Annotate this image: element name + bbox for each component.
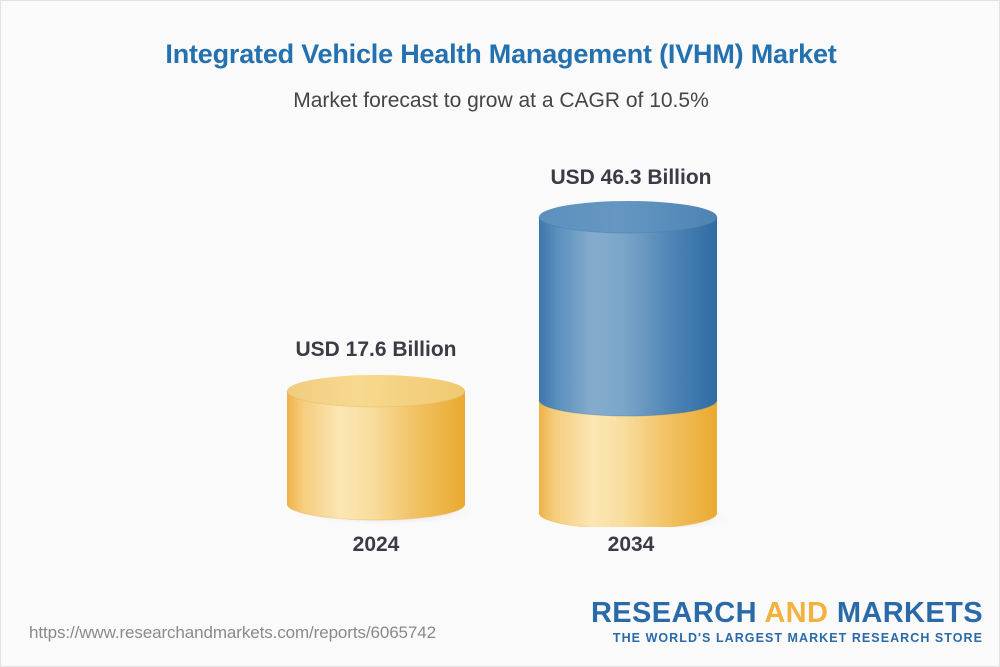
bar-2024 <box>279 375 479 525</box>
research-and-markets-logo[interactable]: RESEARCH AND MARKETS THE WORLD'S LARGEST… <box>591 598 983 645</box>
chart-canvas: Integrated Vehicle Health Management (IV… <box>0 0 1000 667</box>
value-label-2024: USD 17.6 Billion <box>226 338 526 362</box>
bar-2034 <box>523 197 743 527</box>
logo-word-research: RESEARCH <box>591 597 757 629</box>
logo-wordmark: RESEARCH AND MARKETS <box>591 598 983 628</box>
bar-2034-yellow-segment <box>539 400 717 527</box>
source-url-link[interactable]: https://www.researchandmarkets.com/repor… <box>29 623 436 643</box>
bar-2024-body <box>287 391 465 520</box>
category-label-2034: 2034 <box>481 533 781 557</box>
value-label-2034: USD 46.3 Billion <box>481 166 781 190</box>
logo-tagline: THE WORLD'S LARGEST MARKET RESEARCH STOR… <box>591 631 983 645</box>
logo-word-and: AND <box>764 597 828 629</box>
chart-plot-area: USD 17.6 Billion <box>1 1 1000 667</box>
bar-2034-blue-segment <box>539 217 717 416</box>
logo-word-markets: MARKETS <box>837 597 983 629</box>
